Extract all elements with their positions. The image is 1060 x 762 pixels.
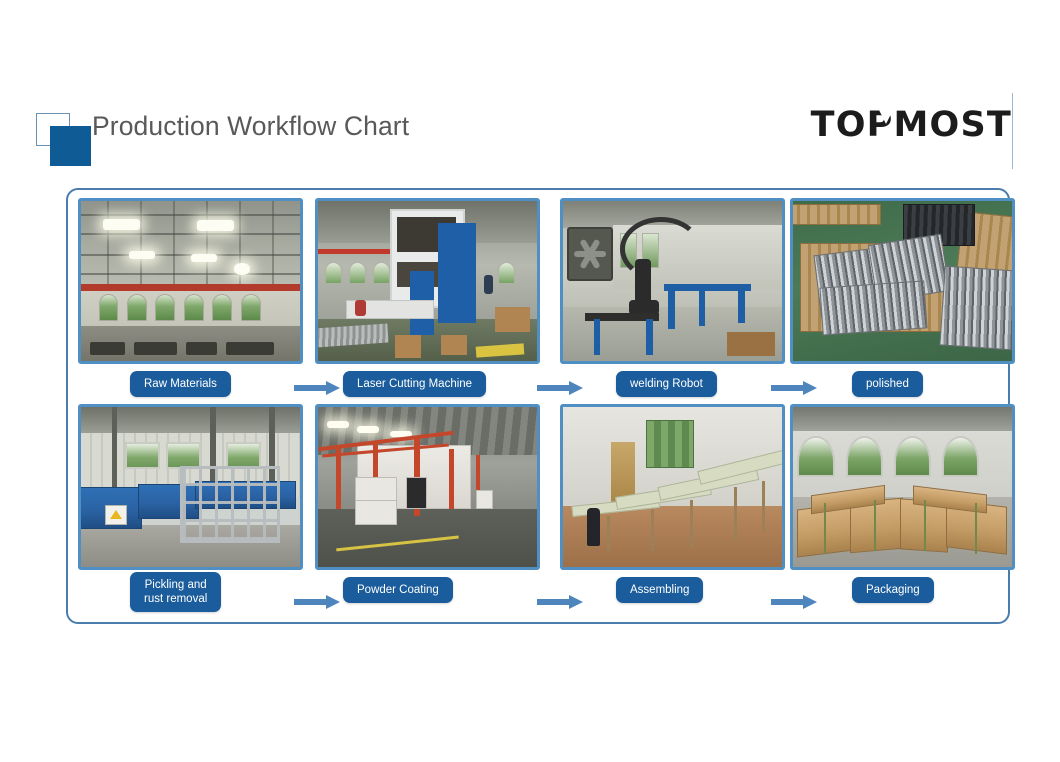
workflow-step: Powder Coating [315,404,540,612]
workflow-step: Packaging [790,404,1015,612]
workflow-container: Raw Materials [66,188,1010,624]
page-title: Production Workflow Chart [92,111,409,142]
step-photo-powder-coating [315,404,540,570]
step-label: Packaging [852,577,934,603]
page-header: Production Workflow Chart TOPMOST [0,0,1060,178]
step-label: welding Robot [616,371,717,397]
right-arrow-icon [771,381,817,395]
step-photo-assembling [560,404,785,570]
step-photo-welding-robot [560,198,785,364]
workflow-step: Raw Materials [78,198,303,406]
right-arrow-icon [294,595,340,609]
right-arrow-icon [294,381,340,395]
step-photo-laser-cutting-machine [315,198,540,364]
workflow-step: polished [790,198,1015,406]
right-arrow-icon [537,381,583,395]
workflow-step: welding Robot [560,198,785,406]
right-arrow-icon [537,595,583,609]
workflow-row-1: Raw Materials [68,198,1012,406]
right-arrow-icon [771,595,817,609]
step-label: Pickling and rust removal [130,572,221,612]
logo-solid-square-icon [50,126,91,166]
logo-mark [36,113,92,167]
step-photo-polished [790,198,1015,364]
step-label: Raw Materials [130,371,231,397]
brand-m-notch-icon [877,106,895,124]
step-photo-pickling-and-rust-removal [78,404,303,570]
workflow-step: Assembling [560,404,785,612]
brand-wordmark: TOPMOST [811,108,1012,143]
step-photo-packaging [790,404,1015,570]
step-photo-raw-materials [78,198,303,364]
brand-logo: TOPMOST [811,104,1012,146]
step-label: polished [852,371,923,397]
step-label: Laser Cutting Machine [343,371,486,397]
workflow-step: Pickling and rust removal [78,404,303,612]
step-label: Assembling [616,577,703,603]
header-divider [1012,93,1013,169]
step-label: Powder Coating [343,577,453,603]
workflow-step: Laser Cutting Machine [315,198,540,406]
workflow-row-2: Pickling and rust removal [68,404,1012,612]
